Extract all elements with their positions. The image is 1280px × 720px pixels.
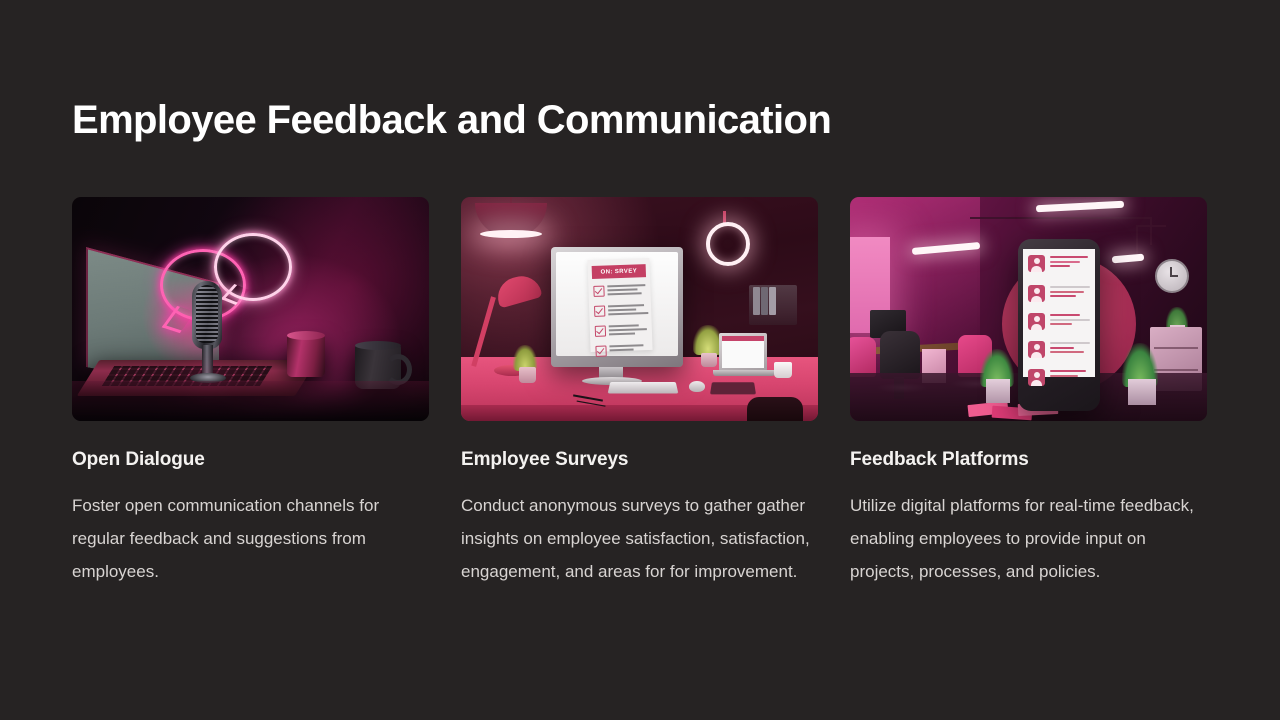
speech-bubble-icon (214, 233, 292, 301)
checkbox-checked-icon (595, 326, 606, 337)
checkbox-checked-icon (593, 286, 604, 297)
feedback-list-item (1028, 255, 1090, 277)
plant-pot (519, 367, 536, 383)
card-title: Employee Surveys (461, 449, 818, 471)
checkbox-checked-icon (595, 345, 606, 356)
feature-card-row: Open Dialogue Foster open communication … (72, 197, 1208, 588)
desk-mat (710, 382, 756, 394)
checklist-item (594, 304, 648, 321)
mouse-icon (689, 381, 705, 392)
feedback-list-item (1028, 369, 1090, 391)
pendant-lamp-glow (480, 230, 542, 238)
card-body-text: Conduct anonymous surveys to gather gath… (461, 489, 811, 588)
ceiling-light-icon (1036, 201, 1124, 213)
user-avatar-icon (1028, 313, 1045, 330)
checklist-text-lines (609, 344, 649, 353)
plant-pot (986, 379, 1010, 403)
laptop-base (713, 370, 775, 376)
card-body-text: Foster open communication channels for r… (72, 489, 422, 588)
ceiling-light-icon (1112, 254, 1144, 264)
desk-surface (72, 381, 429, 421)
checklist-item (595, 324, 649, 341)
checklist-text-lines (607, 284, 647, 297)
user-avatar-icon (1028, 341, 1045, 358)
user-avatar-icon (1028, 285, 1045, 302)
feedback-text-lines (1050, 342, 1090, 356)
mug-icon (774, 362, 792, 378)
card-title: Feedback Platforms (850, 449, 1207, 471)
feedback-text-lines (1050, 314, 1090, 328)
checklist-item (593, 284, 647, 301)
page-title: Employee Feedback and Communication (72, 98, 831, 143)
checklist-text-lines (608, 304, 648, 317)
checkbox-checked-icon (594, 306, 605, 317)
survey-banner-label: ON: SRVEY (592, 264, 646, 279)
card-image-magenta-office-smartphone-feedback-list (850, 197, 1207, 421)
plant-pot (1128, 379, 1156, 405)
chair-icon (747, 397, 803, 421)
feedback-list-item (1028, 341, 1090, 363)
ceiling-rail (1136, 225, 1166, 257)
card-image-neon-speech-bubbles-microphone-laptop (72, 197, 429, 421)
book-icon (753, 287, 760, 315)
feedback-text-lines (1050, 370, 1090, 379)
book-icon (769, 287, 776, 315)
checklist-item (595, 344, 649, 361)
keyboard-icon (608, 382, 679, 393)
ring-light-icon (706, 222, 750, 266)
card-image-pink-desk-monitor-survey-checklist: ON: SRVEY (461, 197, 818, 421)
office-chair-icon (850, 337, 876, 377)
plant-pot (701, 353, 717, 367)
feature-card-open-dialogue[interactable]: Open Dialogue Foster open communication … (72, 197, 429, 588)
feedback-list-item (1028, 285, 1090, 307)
user-speaking-avatar-icon (1028, 369, 1045, 386)
laptop-screen-banner (722, 336, 764, 341)
feedback-text-lines (1050, 286, 1090, 300)
cup-icon (287, 335, 325, 377)
survey-document: ON: SRVEY (587, 258, 652, 352)
wall-clock-icon (1155, 259, 1189, 293)
feedback-text-lines (1050, 256, 1090, 270)
slide-root: Employee Feedback and Communication Ope (0, 0, 1280, 720)
user-avatar-icon (1028, 255, 1045, 272)
checklist-text-lines (609, 324, 649, 337)
book-icon (761, 287, 768, 315)
card-body-text: Utilize digital platforms for real-time … (850, 489, 1200, 588)
feedback-list-item (1028, 313, 1090, 335)
feature-card-employee-surveys[interactable]: ON: SRVEY (461, 197, 818, 588)
office-chair-icon (880, 331, 920, 379)
card-title: Open Dialogue (72, 449, 429, 471)
microphone-grille-icon (196, 285, 218, 343)
feature-card-feedback-platforms[interactable]: Feedback Platforms Utilize digital platf… (850, 197, 1207, 588)
